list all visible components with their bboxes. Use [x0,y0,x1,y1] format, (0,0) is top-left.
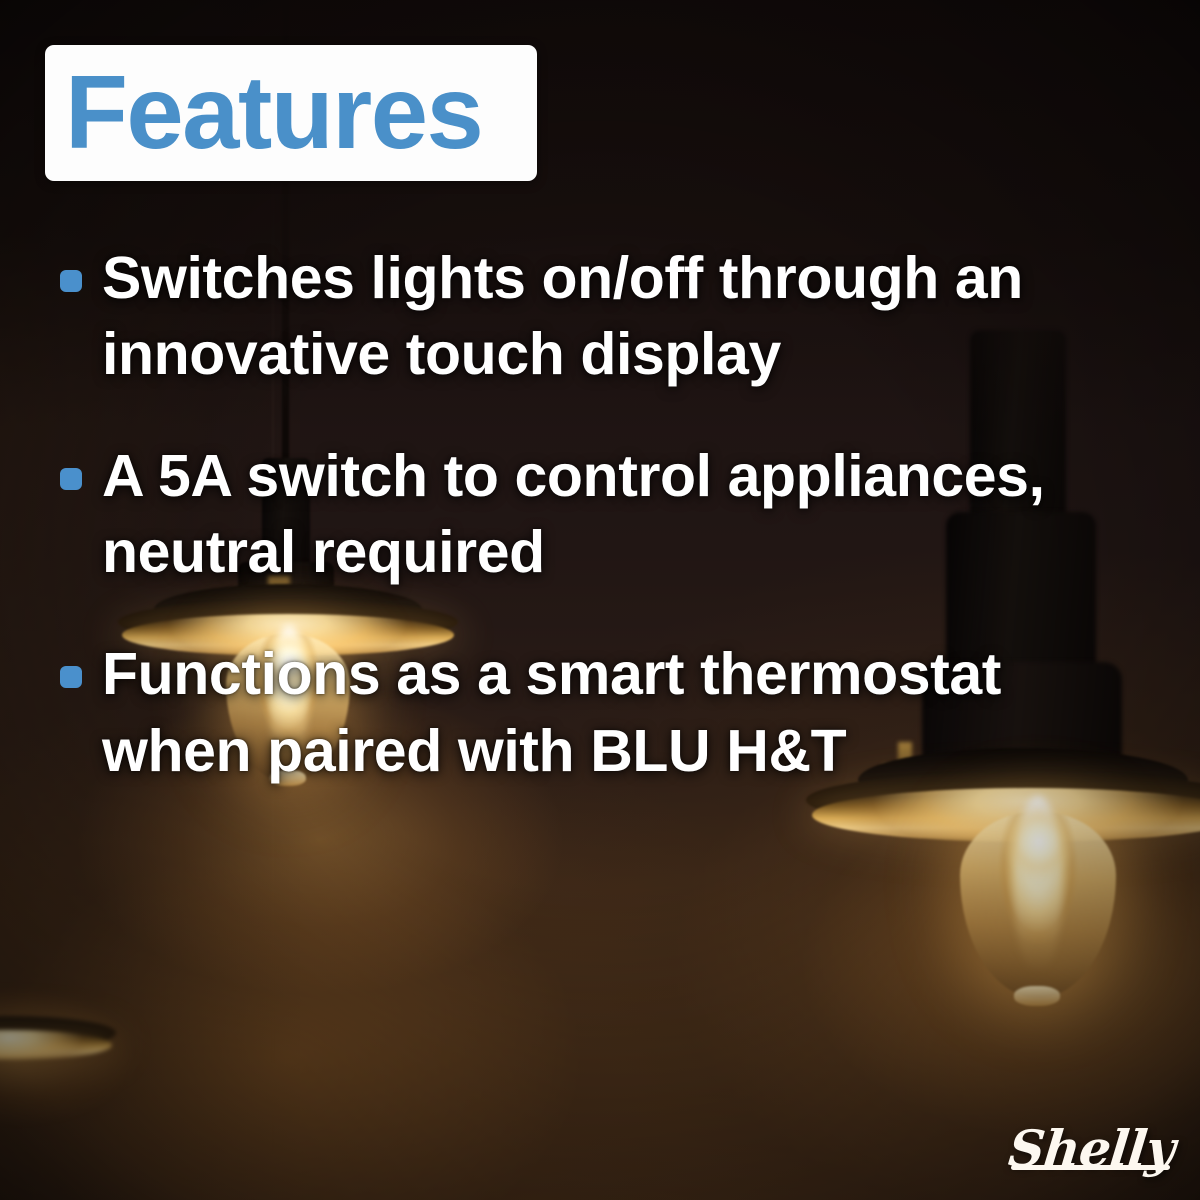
bullet-square-icon [60,468,82,490]
feature-text: A 5A switch to control appliances, neutr… [102,438,1112,590]
bullet-square-icon [60,270,82,292]
promo-card: Features Switches lights on/off through … [0,0,1200,1200]
page-title-box: Features [45,45,537,181]
feature-text: Switches lights on/off through an innova… [102,240,1112,392]
list-item: A 5A switch to control appliances, neutr… [60,438,1140,590]
brand-logo: Shelly [1006,1119,1178,1178]
list-item: Switches lights on/off through an innova… [60,240,1140,392]
bullet-square-icon [60,666,82,688]
far-left-partial-lamp [0,990,134,1110]
page-title: Features [65,61,482,165]
feature-text: Functions as a smart thermostat when pai… [102,636,1112,788]
lamp-glass-tip [1014,986,1060,1006]
list-item: Functions as a smart thermostat when pai… [60,636,1140,788]
feature-list: Switches lights on/off through an innova… [60,240,1140,835]
